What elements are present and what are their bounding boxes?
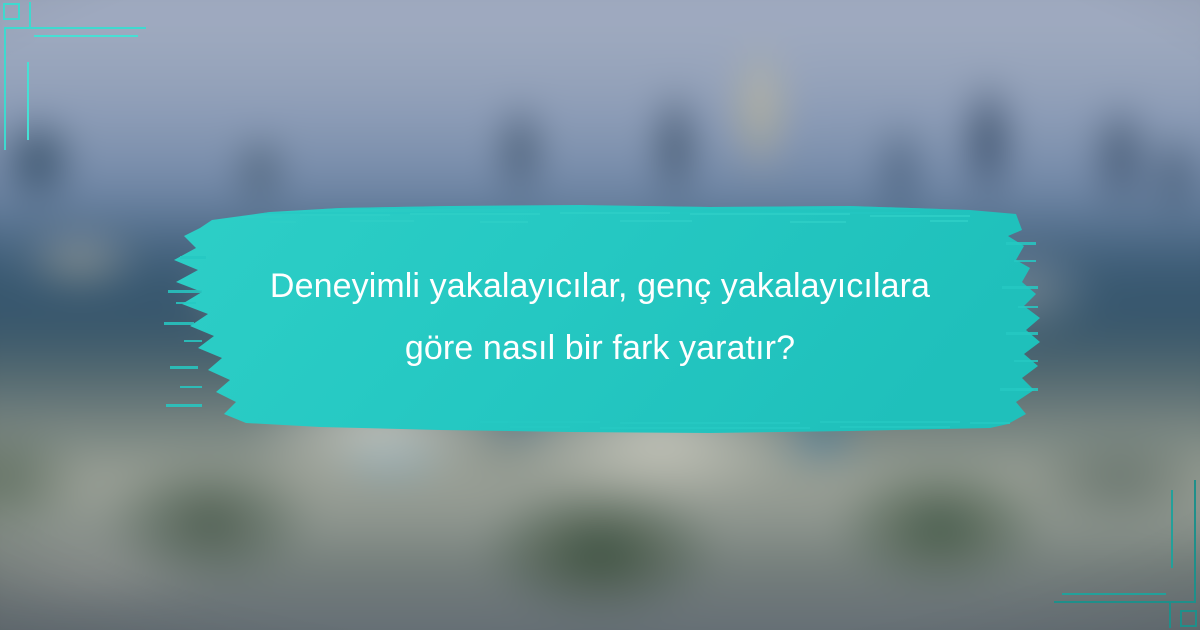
headline: Deneyimli yakalayıcılar, genç yakalayıcı…: [170, 255, 1030, 379]
corner-ornament-bottom-right: [1000, 470, 1200, 630]
social-card: Deneyimli yakalayıcılar, genç yakalayıcı…: [0, 0, 1200, 630]
corner-ornament-top-left: [0, 0, 200, 160]
headline-line-1: Deneyimli yakalayıcılar, genç yakalayıcı…: [170, 255, 1030, 317]
headline-line-2: göre nasıl bir fark yaratır?: [170, 317, 1030, 379]
